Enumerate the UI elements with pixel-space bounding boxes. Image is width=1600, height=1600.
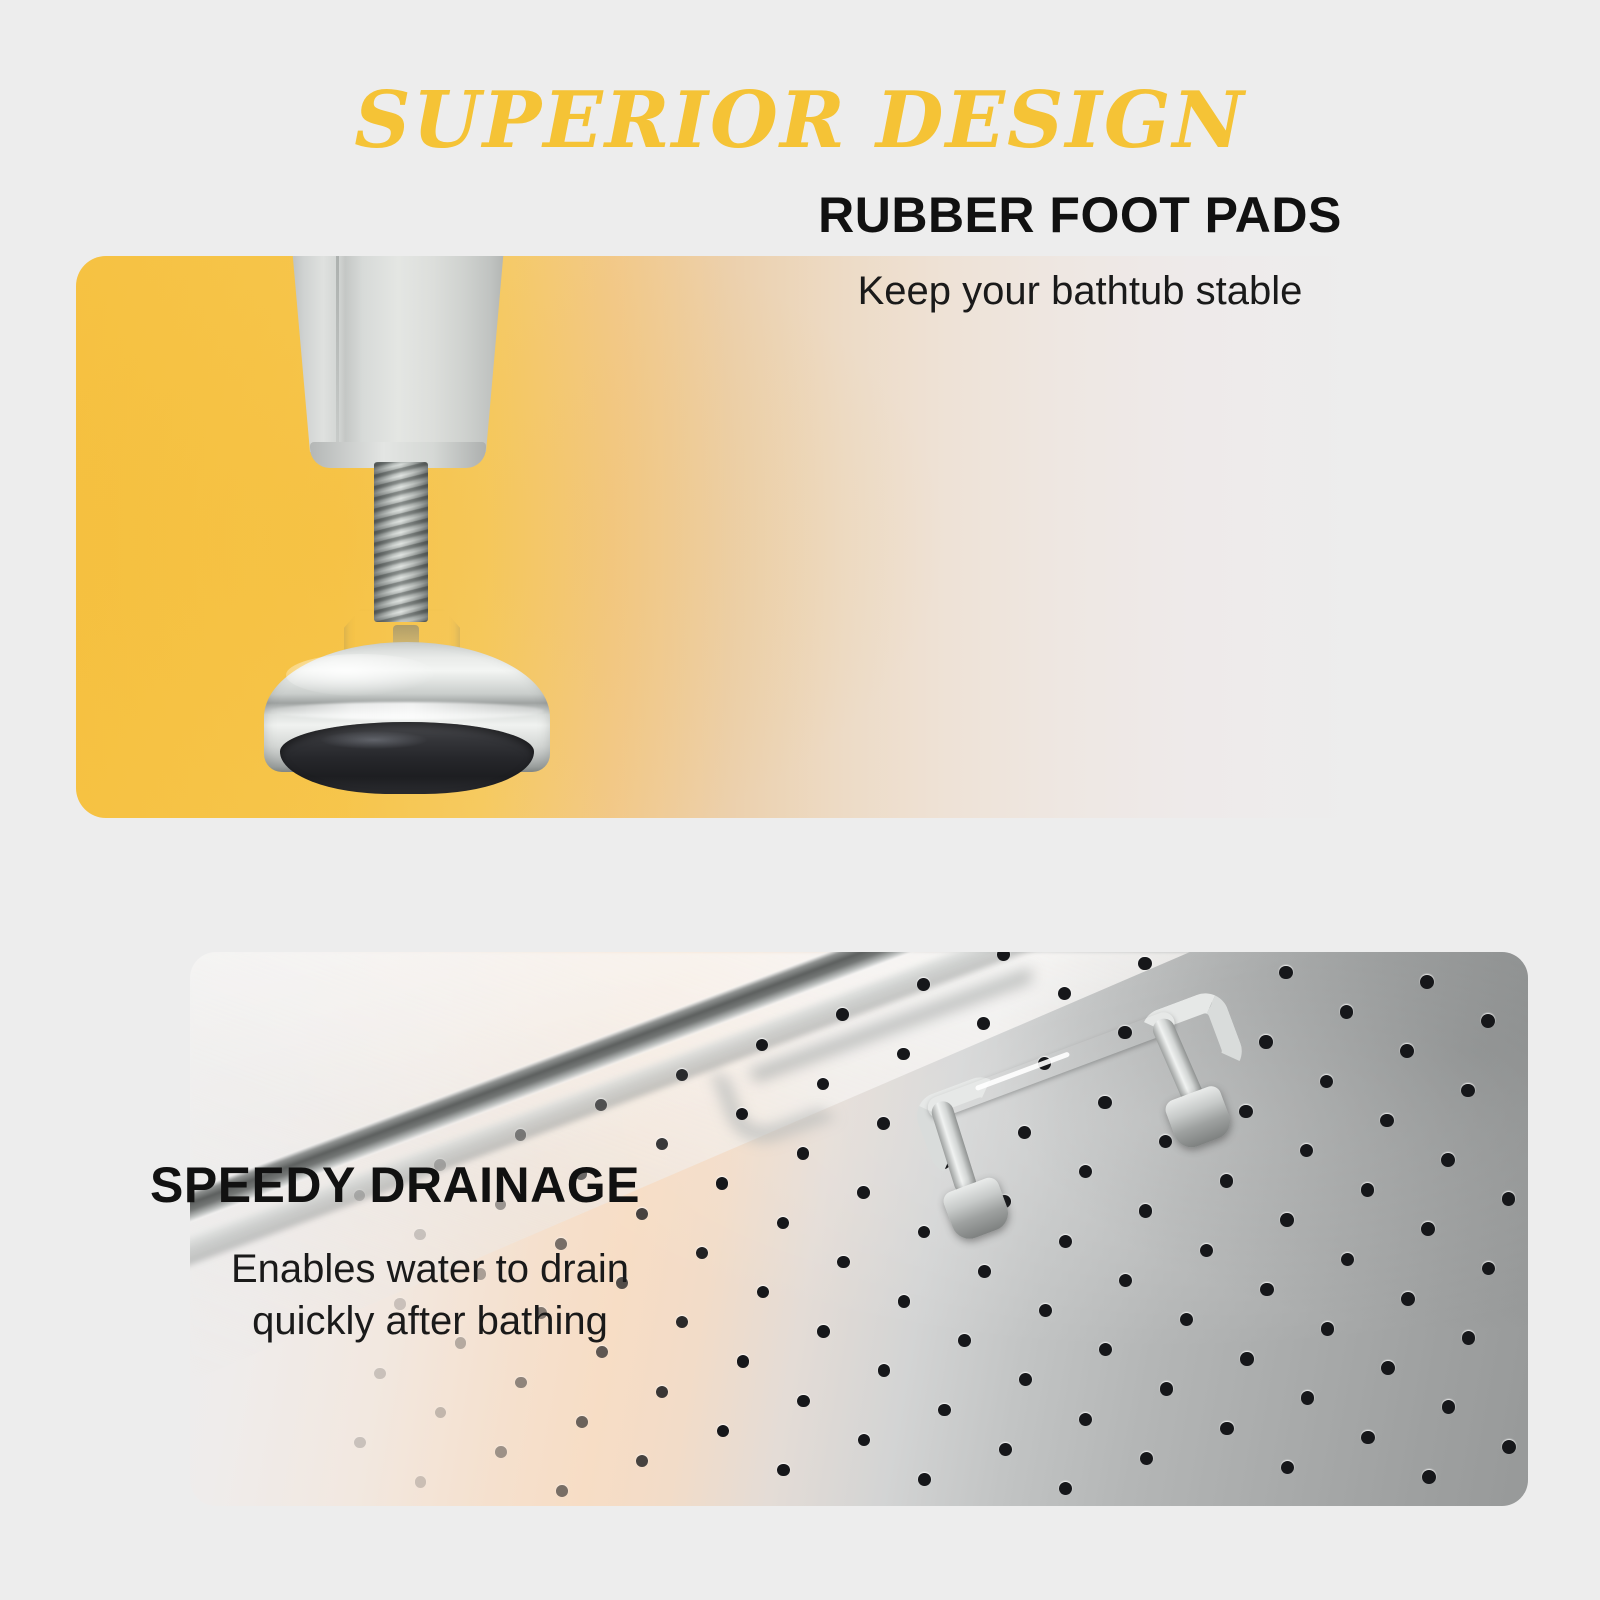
- grab-handle-mount-left: [941, 1175, 1014, 1244]
- feature-title-speedy-drainage: SPEEDY DRAINAGE: [150, 1158, 710, 1213]
- feature-subtitle-speedy-drainage: Enables water to drain quickly after bat…: [150, 1243, 710, 1347]
- feature-subtitle-line-2: quickly after bathing: [150, 1295, 710, 1347]
- grab-handle-mount-right: [1163, 1083, 1236, 1152]
- feature-subtitle-rubber-foot-pads: Keep your bathtub stable: [760, 265, 1400, 317]
- page-title: SUPERIOR DESIGN: [0, 82, 1600, 160]
- leveling-foot-illustration: [256, 256, 616, 786]
- feature-panel-rubber-foot-pads: [76, 256, 1528, 818]
- feature-title-rubber-foot-pads: RUBBER FOOT PADS: [760, 188, 1400, 243]
- feature-subtitle-line-1: Enables water to drain: [150, 1243, 710, 1295]
- feature-text-rubber-foot-pads: RUBBER FOOT PADS Keep your bathtub stabl…: [760, 188, 1400, 317]
- foot-base-highlight: [286, 654, 436, 696]
- feature-text-speedy-drainage: SPEEDY DRAINAGE Enables water to drain q…: [150, 1158, 710, 1347]
- tub-leg-post: [288, 256, 508, 452]
- rubber-foot-pad: [280, 722, 534, 794]
- threaded-rod: [374, 462, 428, 622]
- foot-base-ring: [270, 702, 544, 720]
